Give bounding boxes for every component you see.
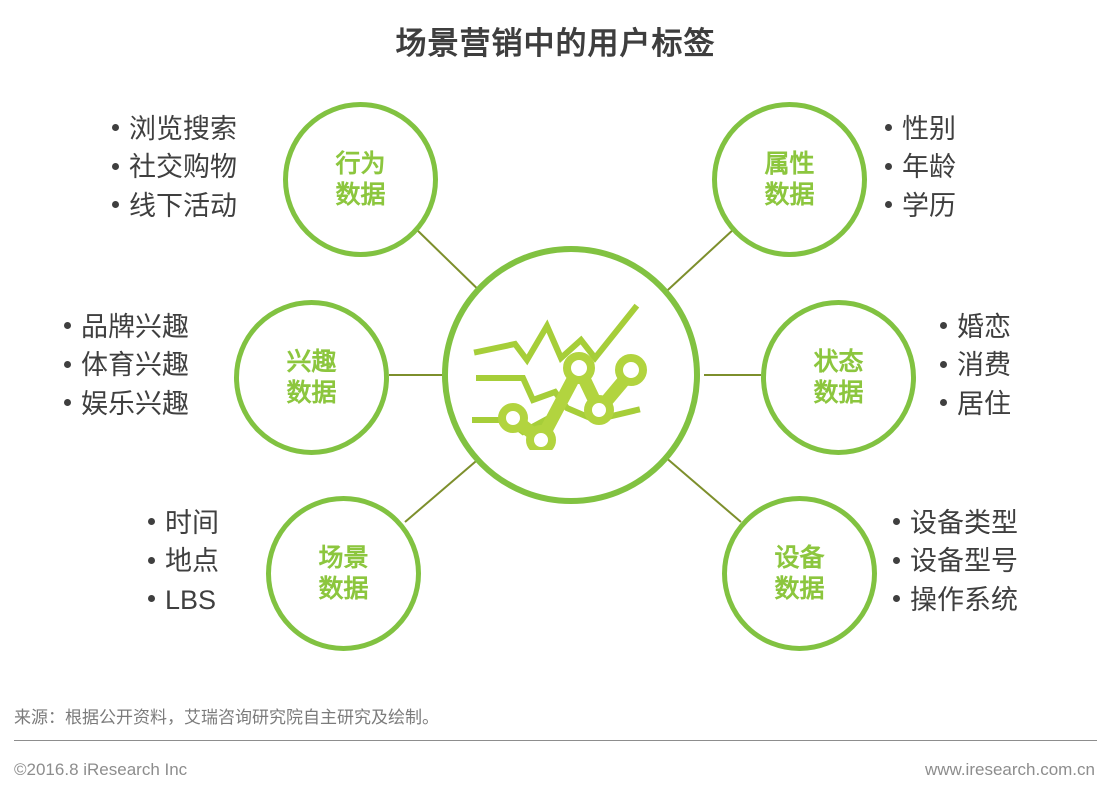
list-item: 设备型号 <box>893 542 1018 580</box>
copyright-text: ©2016.8 iResearch Inc <box>14 760 187 780</box>
bullets-scene: 时间 地点 LBS <box>148 504 219 619</box>
list-item: 性别 <box>885 110 956 148</box>
bullet-text: 线下活动 <box>129 191 237 221</box>
node-device-label-line1: 设备 <box>774 543 824 574</box>
node-attribute-label-line2: 数据 <box>764 180 814 211</box>
source-note: 来源：根据公开资料，艾瑞咨询研究院自主研究及绘制。 <box>14 703 439 728</box>
node-status-label: 状态 数据 <box>813 347 863 408</box>
node-device[interactable]: 设备 数据 <box>722 496 877 651</box>
node-interest[interactable]: 兴趣 数据 <box>234 300 389 455</box>
node-interest-label-line2: 数据 <box>286 378 336 409</box>
bullet-text: 设备型号 <box>910 546 1018 576</box>
bullet-text: 学历 <box>902 191 956 221</box>
connector-attribute <box>657 228 735 300</box>
node-scene-label-line1: 场景 <box>318 543 368 574</box>
bullets-behavior: 浏览搜索 社交购物 线下活动 <box>112 110 237 225</box>
node-interest-label-line1: 兴趣 <box>286 347 336 378</box>
node-device-label: 设备 数据 <box>774 543 824 604</box>
list-item: 浏览搜索 <box>112 110 237 148</box>
bullet-dot-icon <box>64 322 71 329</box>
bullet-dot-icon <box>112 124 119 131</box>
bullet-dot-icon <box>893 595 900 602</box>
node-attribute[interactable]: 属性 数据 <box>712 102 867 257</box>
node-scene[interactable]: 场景 数据 <box>266 496 421 651</box>
bullet-dot-icon <box>112 201 119 208</box>
list-item: 娱乐兴趣 <box>64 385 189 423</box>
bullet-dot-icon <box>940 361 947 368</box>
bullet-dot-icon <box>940 399 947 406</box>
bullet-text: 时间 <box>165 508 219 538</box>
node-attribute-label: 属性 数据 <box>764 149 814 210</box>
node-status[interactable]: 状态 数据 <box>761 300 916 455</box>
bullet-dot-icon <box>885 163 892 170</box>
bullets-interest: 品牌兴趣 体育兴趣 娱乐兴趣 <box>64 308 189 423</box>
bullet-dot-icon <box>112 163 119 170</box>
bullets-status: 婚恋 消费 居住 <box>940 308 1011 423</box>
bullet-dot-icon <box>148 595 155 602</box>
bullet-text: 设备类型 <box>910 508 1018 538</box>
bullets-attribute: 性别 年龄 学历 <box>885 110 956 225</box>
bullet-dot-icon <box>893 557 900 564</box>
bullet-text: LBS <box>165 585 216 615</box>
footer-divider <box>14 740 1097 741</box>
bullet-dot-icon <box>893 518 900 525</box>
bullet-dot-icon <box>885 201 892 208</box>
bullet-text: 操作系统 <box>910 585 1018 615</box>
list-item: 年龄 <box>885 148 956 186</box>
list-item: 线下活动 <box>112 187 237 225</box>
bullet-text: 婚恋 <box>957 312 1011 342</box>
list-item: 操作系统 <box>893 581 1018 619</box>
node-status-label-line2: 数据 <box>813 378 863 409</box>
list-item: 婚恋 <box>940 308 1011 346</box>
list-item: 居住 <box>940 385 1011 423</box>
list-item: 品牌兴趣 <box>64 308 189 346</box>
node-scene-label-line2: 数据 <box>318 574 368 605</box>
node-behavior-label-line2: 数据 <box>335 180 385 211</box>
node-behavior-label: 行为 数据 <box>335 149 385 210</box>
list-item: 消费 <box>940 346 1011 384</box>
bullet-dot-icon <box>885 124 892 131</box>
bullet-text: 年龄 <box>902 152 956 182</box>
bullet-text: 品牌兴趣 <box>81 312 189 342</box>
bullet-dot-icon <box>148 557 155 564</box>
list-item: 学历 <box>885 187 956 225</box>
bullet-dot-icon <box>148 518 155 525</box>
bullet-dot-icon <box>64 361 71 368</box>
node-attribute-label-line1: 属性 <box>764 149 814 180</box>
bullet-text: 消费 <box>957 350 1011 380</box>
list-item: 时间 <box>148 504 219 542</box>
node-interest-label: 兴趣 数据 <box>286 347 336 408</box>
center-circle <box>442 246 700 504</box>
bullet-text: 性别 <box>902 114 956 144</box>
node-device-label-line2: 数据 <box>774 574 824 605</box>
list-item: 设备类型 <box>893 504 1018 542</box>
bullet-text: 体育兴趣 <box>81 350 189 380</box>
bullet-text: 居住 <box>957 389 1011 419</box>
website-link[interactable]: www.iresearch.com.cn <box>925 760 1095 780</box>
node-behavior[interactable]: 行为 数据 <box>283 102 438 257</box>
chart-markers <box>502 356 643 450</box>
list-item: 地点 <box>148 542 219 580</box>
node-status-label-line1: 状态 <box>813 347 863 378</box>
page-title: 场景营销中的用户标签 <box>0 18 1111 63</box>
node-behavior-label-line1: 行为 <box>335 149 385 180</box>
bullet-text: 地点 <box>165 546 219 576</box>
list-item: LBS <box>148 581 219 619</box>
diagram-canvas: 行为 数据 浏览搜索 社交购物 线下活动 属性 数据 性别 年龄 学历 兴趣 数… <box>0 60 1111 680</box>
list-item: 社交购物 <box>112 148 237 186</box>
bullets-device: 设备类型 设备型号 操作系统 <box>893 504 1018 619</box>
list-item: 体育兴趣 <box>64 346 189 384</box>
bullet-text: 社交购物 <box>129 152 237 182</box>
connector-device <box>657 450 741 522</box>
bullet-text: 娱乐兴趣 <box>81 389 189 419</box>
bullet-text: 浏览搜索 <box>129 114 237 144</box>
node-scene-label: 场景 数据 <box>318 543 368 604</box>
bullet-dot-icon <box>64 399 71 406</box>
line-chart-icon <box>471 300 671 450</box>
bullet-dot-icon <box>940 322 947 329</box>
